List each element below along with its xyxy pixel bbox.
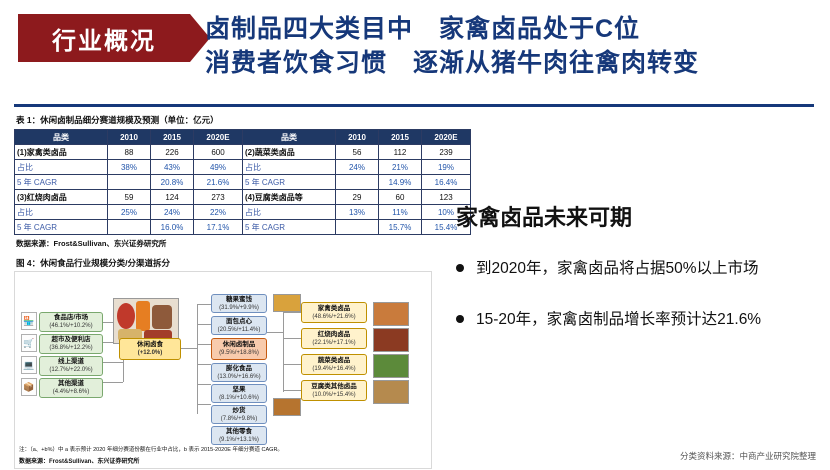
box-icon: 📦 [21,378,37,396]
page-header: 行业概况 卤制品四大类目中 家禽卤品处于C位 消费者饮食习惯 逐渐从猪牛肉往禽肉… [0,0,830,100]
cell: 124 [151,190,194,205]
cell: 13% [336,205,379,220]
channel-node-2: 线上渠道 (12.7%/+22.0%) [39,356,103,376]
bullet-dot-icon [456,264,464,272]
cell: 15.7% [379,220,422,235]
right-heading: 家禽卤品未来可期 [456,200,816,232]
cell [108,220,151,235]
left-column: 表 1：休闲卤制品细分赛道规模及预测（单位：亿元） 品类 2010 2015 2… [14,114,430,458]
cell [336,220,379,235]
connector-line [197,404,211,405]
node-value: (31.9%/+9.9%) [219,304,259,312]
section-badge-label: 行业概况 [18,14,190,62]
cell [108,175,151,190]
node-label: 蔬菜类卤品 [318,357,351,365]
bullet-item: 15-20年，家禽卤制品增长率预计达21.6% [456,309,816,330]
laptop-icon: 💻 [21,356,37,374]
poultry-photo [373,302,409,326]
col-2010-right: 2010 [336,130,379,145]
mid-node: 休闲卤制品 (9.5%/+18.8%) [211,338,267,360]
cell: 占比 [243,160,336,175]
connector-line [283,312,284,392]
figure-caption: 图 4：休闲食品行业规模分类/分渠道拆分 [16,257,430,269]
snack-thumb-0 [273,294,301,312]
table-row: 占比 25% 24% 22% 占比 13% 11% 10% [15,205,471,220]
cell: 21.6% [194,175,243,190]
page-title-line2: 消费者饮食习惯 逐渐从猪牛肉往禽肉转变 [205,46,815,80]
cell: (2)蔬菜类卤品 [243,145,336,160]
node-label: 面包点心 [226,318,252,326]
channel-node-1: 超市及便利店 (36.8%/+12.2%) [39,334,103,354]
cell: 24% [336,160,379,175]
table-row: 5 年 CAGR 20.8% 21.6% 5 年 CAGR 14.9% 16.4… [15,175,471,190]
cell: 占比 [15,160,108,175]
node-value: (9.1%/+13.1%) [219,436,259,444]
cell: 59 [108,190,151,205]
node-value: (22.1%/+17.1%) [312,339,355,347]
braised-node-3: 豆腐类其他卤品 (10.0%/+15.4%) [301,380,367,401]
cell: 56 [336,145,379,160]
industry-breakdown-figure: 🏪 🛒 💻 📦 食品店/市场 (46.1%/+10.2%) 超市及便利店 (36… [14,271,432,469]
cell: 38% [108,160,151,175]
shopping-cart-icon: 🛒 [21,334,37,352]
cell: 49% [194,160,243,175]
table-row: (3)红烧肉卤品 59 124 273 (4)豆腐类卤品等 29 60 123 [15,190,471,205]
col-2015-left: 2015 [151,130,194,145]
cell: (4)豆腐类卤品等 [243,190,336,205]
node-value: (9.5%/+18.8%) [219,349,259,357]
cell: 19% [422,160,471,175]
cell: 17.1% [194,220,243,235]
bullet-text: 到2020年，家禽卤品将占据50%以上市场 [476,258,759,279]
figure-note: 注：（a、+b%）中 a 表示预计 2020 年细分赛道份额在行业中占比，b 表… [19,447,419,454]
figure-source: 数据来源：Frost&Sullivan、东兴证券研究所 [19,456,139,465]
cell: (1)家禽类卤品 [15,145,108,160]
bullet-dot-icon [456,315,464,323]
node-value: (46.1%/+10.2%) [49,322,92,330]
node-label: 休闲卤制品 [223,341,256,349]
connector-line [197,344,211,345]
node-label: 其他渠道 [58,380,84,388]
cell: 20.8% [151,175,194,190]
bullet-text: 15-20年，家禽卤制品增长率预计达21.6% [476,309,761,330]
cell: (3)红烧肉卤品 [15,190,108,205]
node-label: 超市及便利店 [52,336,91,344]
cell: 21% [379,160,422,175]
node-label: 糖果蜜饯 [226,296,252,304]
category-node-4: 炒货 (7.8%/+9.8%) [211,405,267,424]
col-2015-right: 2015 [379,130,422,145]
node-value: (20.5%/+11.4%) [218,326,261,334]
cell: 占比 [15,205,108,220]
node-label: 豆腐类其他卤品 [311,383,357,391]
header-divider [14,104,814,107]
cell: 112 [379,145,422,160]
connector-line [197,384,211,385]
node-value: (8.1%/+10.6%) [219,394,259,402]
cell: 16.4% [422,175,471,190]
cell: 239 [422,145,471,160]
braised-node-0: 家禽类卤品 (48.6%/+21.6%) [301,302,367,323]
node-value: (48.6%/+21.6%) [312,313,355,321]
cell: 25% [108,205,151,220]
cell: 273 [194,190,243,205]
cell: 5 年 CAGR [243,220,336,235]
node-value: (10.0%/+15.4%) [312,391,355,399]
cell: 14.9% [379,175,422,190]
col-category-right: 品类 [243,130,336,145]
connector-line [197,324,211,325]
table-source: 数据来源：Frost&Sullivan、东兴证券研究所 [16,238,430,249]
bullet-item: 到2020年，家禽卤品将占据50%以上市场 [456,258,816,279]
connector-line [197,304,198,414]
segment-forecast-table: 品类 2010 2015 2020E 品类 2010 2015 2020E (1… [14,129,471,235]
category-node-1: 面包点心 (20.5%/+11.4%) [211,316,267,335]
cell: 88 [108,145,151,160]
table-caption: 表 1：休闲卤制品细分赛道规模及预测（单位：亿元） [16,114,430,126]
table-row: (1)家禽类卤品 88 226 600 (2)蔬菜类卤品 56 112 239 [15,145,471,160]
category-node-3: 坚果 (8.1%/+10.6%) [211,384,267,403]
node-label: 坚果 [233,386,246,394]
node-value: (7.8%/+9.8%) [221,415,258,423]
cell: 60 [379,190,422,205]
cell: 43% [151,160,194,175]
braised-meat-photo [373,328,409,352]
connector-line [267,332,283,333]
cell: 24% [151,205,194,220]
right-column: 家禽卤品未来可期 到2020年，家禽卤品将占据50%以上市场 15-20年，家禽… [452,200,816,360]
channel-node-3: 其他渠道 (4.4%/+8.6%) [39,378,103,398]
connector-line [283,312,301,313]
col-2010-left: 2010 [108,130,151,145]
node-label: 其他零食 [226,428,252,436]
cell: 29 [336,190,379,205]
cell [336,175,379,190]
node-label: 线上渠道 [58,358,84,366]
snack-thumb-1 [273,398,301,416]
center-node-label: 休闲卤食 [137,341,163,349]
node-value: (19.4%/+16.4%) [312,365,355,373]
node-label: 炒货 [233,407,246,415]
center-node-value: (+12.0%) [138,349,163,357]
table-row: 5 年 CAGR 16.0% 17.1% 5 年 CAGR 15.7% 15.4… [15,220,471,235]
connector-line [283,364,301,365]
node-value: (12.7%/+22.0%) [49,366,92,374]
connector-line [283,338,301,339]
connector-line [197,364,211,365]
page-title: 卤制品四大类目中 家禽卤品处于C位 消费者饮食习惯 逐渐从猪牛肉往禽肉转变 [205,12,815,80]
store-icon: 🏪 [21,312,37,330]
table-header-row: 品类 2010 2015 2020E 品类 2010 2015 2020E [15,130,471,145]
center-node: 休闲卤食 (+12.0%) [119,338,181,360]
col-category-left: 品类 [15,130,108,145]
category-node-0: 糖果蜜饯 (31.9%/+9.9%) [211,294,267,313]
node-value: (13.0%/+16.6%) [217,373,260,381]
cell: 5 年 CAGR [15,220,108,235]
page-title-line1: 卤制品四大类目中 家禽卤品处于C位 [205,15,640,43]
connector-line [103,362,123,363]
tofu-photo [373,380,409,404]
cell: 11% [379,205,422,220]
category-node-5: 其他零食 (9.1%/+13.1%) [211,426,267,445]
vegetable-photo [373,354,409,378]
category-node-2: 膨化食品 (13.0%/+16.6%) [211,363,267,382]
connector-line [103,382,123,383]
col-2020e-right: 2020E [422,130,471,145]
col-2020e-left: 2020E [194,130,243,145]
connector-line [197,304,211,305]
connector-line [283,390,301,391]
channel-node-0: 食品店/市场 (46.1%/+10.2%) [39,312,103,332]
cell: 16.0% [151,220,194,235]
connector-line [181,348,197,349]
cell: 600 [194,145,243,160]
cell: 22% [194,205,243,220]
node-value: (4.4%/+8.6%) [53,388,90,396]
cell: 占比 [243,205,336,220]
node-label: 红烧肉卤品 [318,331,351,339]
cell: 226 [151,145,194,160]
node-value: (36.8%/+12.2%) [49,344,92,352]
cell: 5 年 CAGR [15,175,108,190]
footer-source: 分类资料来源：中商产业研究院整理 [680,450,816,462]
node-label: 膨化食品 [226,365,252,373]
table-row: 占比 38% 43% 49% 占比 24% 21% 19% [15,160,471,175]
braised-node-2: 蔬菜类卤品 (19.4%/+16.4%) [301,354,367,375]
braised-node-1: 红烧肉卤品 (22.1%/+17.1%) [301,328,367,349]
node-label: 家禽类卤品 [318,305,351,313]
node-label: 食品店/市场 [54,314,88,322]
cell: 5 年 CAGR [243,175,336,190]
